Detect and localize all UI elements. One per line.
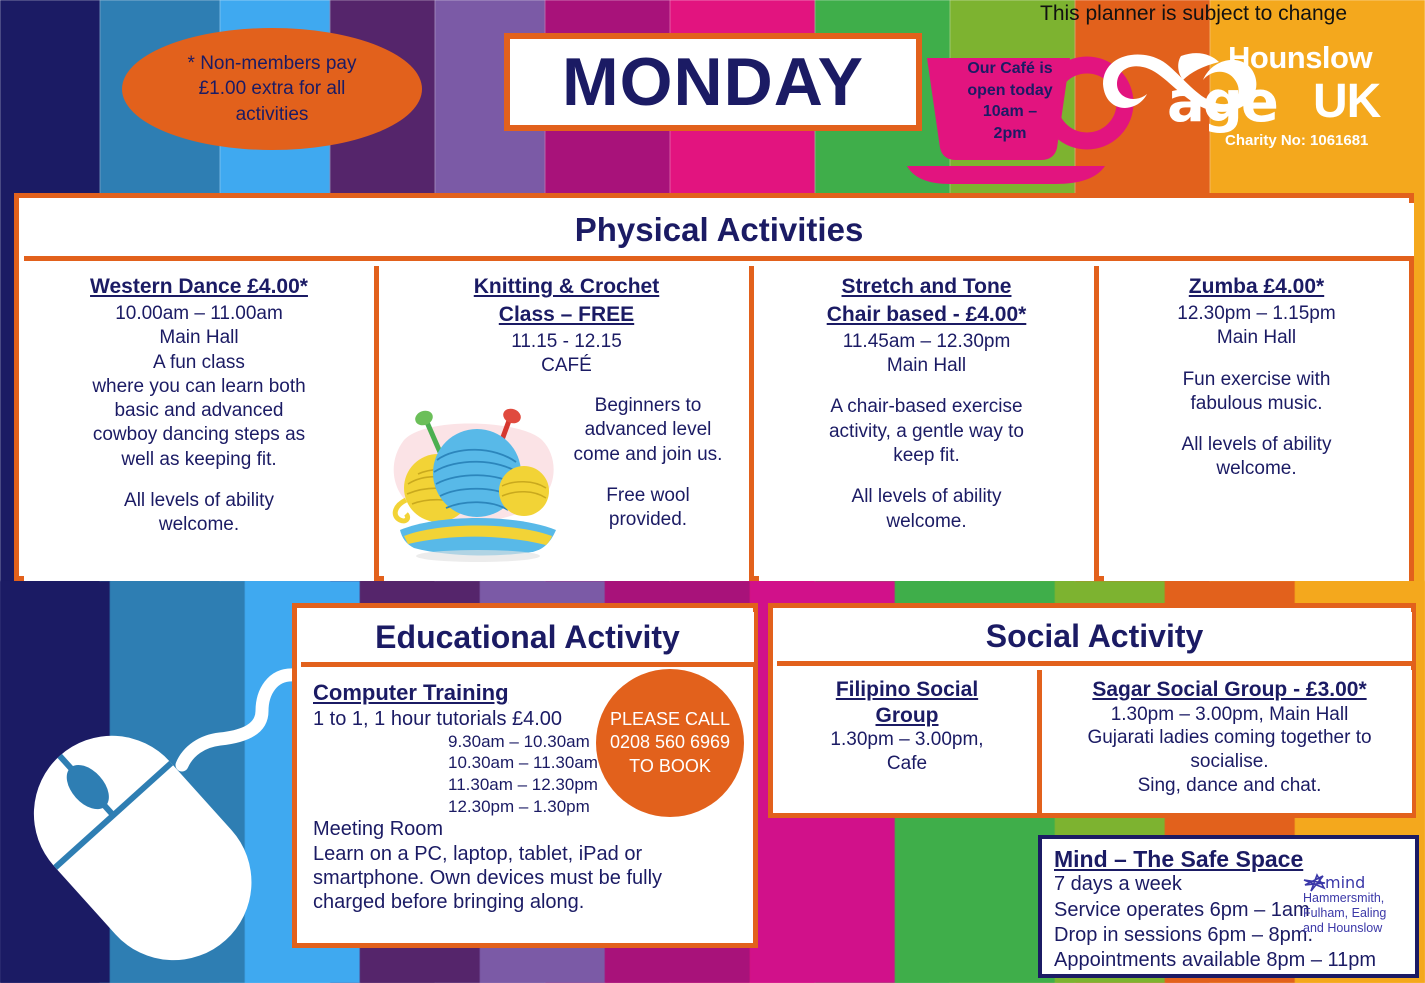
call-badge-line-1: PLEASE CALL [610,708,730,731]
educational-activity-title: Educational Activity [375,619,680,656]
activity-line: A chair-based exercise [769,395,1084,419]
activity-card-filipino-social-group[interactable]: Filipino Social Group 1.30pm – 3.00pm, C… [777,670,1042,813]
social-activity-title: Social Activity [986,618,1204,655]
physical-activities-header: Physical Activities [24,203,1414,261]
age-uk-hounslow-logo: Hounslow age UK Charity No: 1061681 [1085,22,1415,152]
activity-line: A fun class [34,351,364,375]
social-activity-header: Social Activity [777,612,1412,666]
call-badge-line-3: TO BOOK [629,755,711,778]
yarn-balls-icon [382,388,572,563]
activity-card-sagar-social-group[interactable]: Sagar Social Group - £3.00* 1.30pm – 3.0… [1047,670,1412,813]
please-call-to-book-badge[interactable]: PLEASE CALL 0208 560 6969 TO BOOK [596,669,744,817]
activity-title-line2: Class – FREE [394,302,739,329]
knitting-side-text: Beginners to advanced level come and joi… [562,394,734,533]
activity-line: cowboy dancing steps as [34,423,364,447]
activity-line: Main Hall [1114,326,1399,350]
activity-line: where you can learn both [34,375,364,399]
activity-line: CAFÉ [394,354,739,378]
activity-line: 11.15 - 12.15 [394,330,739,354]
mind-logo-line-1: Hammersmith, [1303,891,1407,906]
activity-line: welcome. [1114,457,1399,481]
mind-logo-name: mind [1325,875,1407,891]
activity-line: well as keeping fit. [34,448,364,472]
activity-line: 10.00am – 11.00am [34,302,364,326]
activity-line: basic and advanced [34,399,364,423]
logo-charity-number: Charity No: 1061681 [1225,132,1368,149]
activity-line: come and join us. [562,443,734,467]
activity-line: All levels of ability [769,485,1084,509]
activity-line: advanced level [562,418,734,442]
activity-line: Main Hall [34,326,364,350]
cafe-line-2: open today [950,80,1070,102]
activity-line: Free wool [562,484,734,508]
activity-title: Stretch and Tone [769,274,1084,301]
activity-line: welcome. [769,510,1084,534]
cafe-line-1: Our Café is [950,58,1070,80]
cafe-line-4: 2pm [950,123,1070,145]
spacer [769,378,1084,395]
call-badge-phone: 0208 560 6969 [610,731,730,754]
mind-title: Mind – The Safe Space [1054,846,1405,872]
social-group-line: Gujarati ladies coming together to [1055,726,1404,750]
activity-card-zumba[interactable]: Zumba £4.00* 12.30pm – 1.15pm Main Hall … [1104,266,1409,581]
planner-page: This planner is subject to change * Non-… [0,0,1425,983]
cafe-open-note: Our Café is open today 10am – 2pm [950,58,1070,144]
educational-activity-header: Educational Activity [301,612,754,667]
non-members-line-3: activities [236,102,309,128]
mind-charity-logo: mind Hammersmith, Fulham, Ealing and Hou… [1303,875,1407,935]
day-title-box: MONDAY [504,33,922,131]
social-group-line: Cafe [785,752,1029,776]
activity-title: Zumba £4.00* [1114,274,1399,301]
physical-activities-panel: Physical Activities Western Dance £4.00*… [14,193,1414,581]
social-group-title: Filipino Social [785,677,1029,703]
activity-card-western-dance[interactable]: Western Dance £4.00* 10.00am – 11.00am M… [24,266,379,581]
non-members-note: * Non-members pay £1.00 extra for all ac… [122,28,422,150]
logo-uk-text: UK [1313,74,1380,129]
social-activity-panel: Social Activity Filipino Social Group 1.… [768,603,1416,818]
activity-line: 11.45am – 12.30pm [769,330,1084,354]
mind-line: Appointments available 8pm – 11pm [1054,948,1405,973]
social-group-line: Sing, dance and chat. [1055,774,1404,798]
activity-line: Main Hall [769,354,1084,378]
activity-title: Knitting & Crochet [394,274,739,301]
computer-training-description: smartphone. Own devices must be fully [313,866,742,890]
spacer [562,467,734,484]
spacer [34,472,364,489]
spacer [1114,416,1399,433]
activity-line: Fun exercise with [1114,368,1399,392]
page-title: MONDAY [562,43,864,121]
activity-line: welcome. [34,513,364,537]
non-members-line-1: * Non-members pay [188,51,357,77]
computer-training-description: charged before bringing along. [313,890,742,914]
social-group-title: Sagar Social Group - £3.00* [1055,677,1404,703]
spacer [769,468,1084,485]
activity-line: Beginners to [562,394,734,418]
activity-line: keep fit. [769,444,1084,468]
cafe-line-3: 10am – [950,101,1070,123]
social-group-title-line2: Group [785,703,1029,729]
mind-scribble-icon [1303,873,1327,893]
physical-activities-title: Physical Activities [575,211,864,249]
social-group-line: 1.30pm – 3.00pm, Main Hall [1055,703,1404,727]
activity-title-line2: Chair based - £4.00* [769,302,1084,329]
activity-line: All levels of ability [34,489,364,513]
activity-title: Western Dance £4.00* [34,274,364,301]
mind-logo-line-2: Fulham, Ealing [1303,906,1407,921]
activity-line: fabulous music. [1114,392,1399,416]
spacer [1114,351,1399,368]
computer-mouse-icon [10,655,310,975]
social-group-line: 1.30pm – 3.00pm, [785,728,1029,752]
logo-age-text: age [1167,70,1277,135]
computer-training-description: Learn on a PC, laptop, tablet, iPad or [313,842,742,866]
activity-line: activity, a gentle way to [769,420,1084,444]
mind-safe-space-panel[interactable]: Mind – The Safe Space 7 days a week Serv… [1038,835,1419,978]
activity-card-stretch-and-tone[interactable]: Stretch and Tone Chair based - £4.00* 11… [759,266,1099,581]
activity-line: All levels of ability [1114,433,1399,457]
activity-line: 12.30pm – 1.15pm [1114,302,1399,326]
non-members-line-2: £1.00 extra for all [199,76,346,102]
mind-logo-line-3: and Hounslow [1303,921,1407,936]
social-group-line: socialise. [1055,750,1404,774]
activity-line: provided. [562,508,734,532]
computer-training-room: Meeting Room [313,817,742,841]
